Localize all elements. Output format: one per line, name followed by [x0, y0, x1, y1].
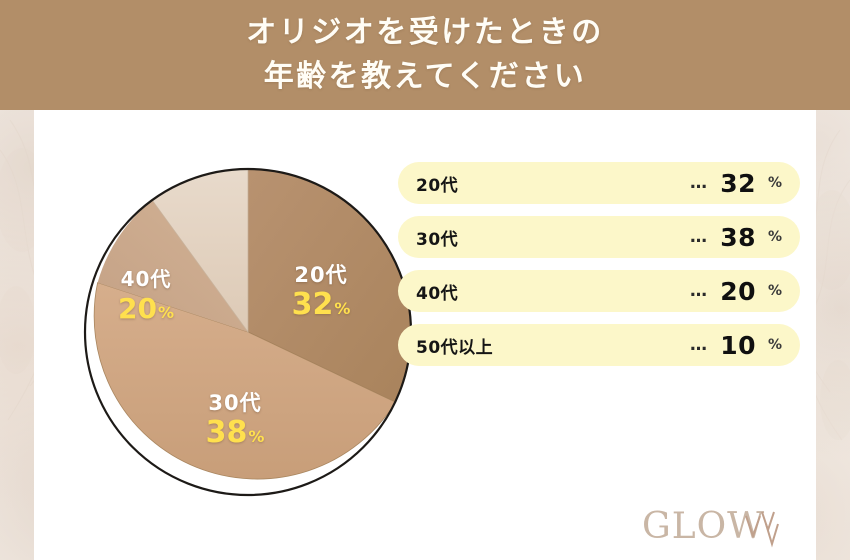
legend-value-40dai: 20 — [720, 277, 756, 306]
legend-unit-50dai-ijou: % — [768, 337, 782, 353]
page-title: オリジオを受けたときの 年齢を教えてください — [0, 11, 850, 99]
pie-chart-svg — [78, 162, 418, 502]
header-bar: オリジオを受けたときの 年齢を教えてください — [0, 0, 850, 110]
legend-dots-20dai: … — [690, 173, 708, 193]
legend-value-20dai: 32 — [720, 169, 756, 198]
legend-value-50dai-ijou: 10 — [720, 331, 756, 360]
legend-unit-30dai: % — [768, 229, 782, 245]
legend-value-30dai: 38 — [720, 223, 756, 252]
pie-chart: 20代 32% 30代 38% 40代 20% — [78, 162, 418, 502]
legend-dots-50dai-ijou: … — [690, 335, 708, 355]
content-card: 20代 32% 30代 38% 40代 20% 20代 … 32 % 30代 — [34, 110, 816, 560]
glow-logo: GLOW — [642, 502, 798, 552]
legend-dots-40dai: … — [690, 281, 708, 301]
glow-logo-text: GLOW — [642, 506, 765, 547]
legend-row-20dai[interactable]: 20代 … 32 % — [398, 162, 800, 204]
legend-label-50dai-ijou: 50代以上 — [416, 333, 493, 358]
legend-list: 20代 … 32 % 30代 … 38 % 40代 … 20 % 50代以上 …… — [398, 162, 800, 378]
legend-row-50dai-ijou[interactable]: 50代以上 … 10 % — [398, 324, 800, 366]
legend-unit-40dai: % — [768, 283, 782, 299]
legend-label-30dai: 30代 — [416, 225, 458, 250]
legend-dots-30dai: … — [690, 227, 708, 247]
infographic-root: オリジオを受けたときの 年齢を教えてください — [0, 0, 850, 560]
legend-row-30dai[interactable]: 30代 … 38 % — [398, 216, 800, 258]
legend-label-40dai: 40代 — [416, 279, 458, 304]
legend-label-20dai: 20代 — [416, 171, 458, 196]
legend-unit-20dai: % — [768, 175, 782, 191]
legend-row-40dai[interactable]: 40代 … 20 % — [398, 270, 800, 312]
